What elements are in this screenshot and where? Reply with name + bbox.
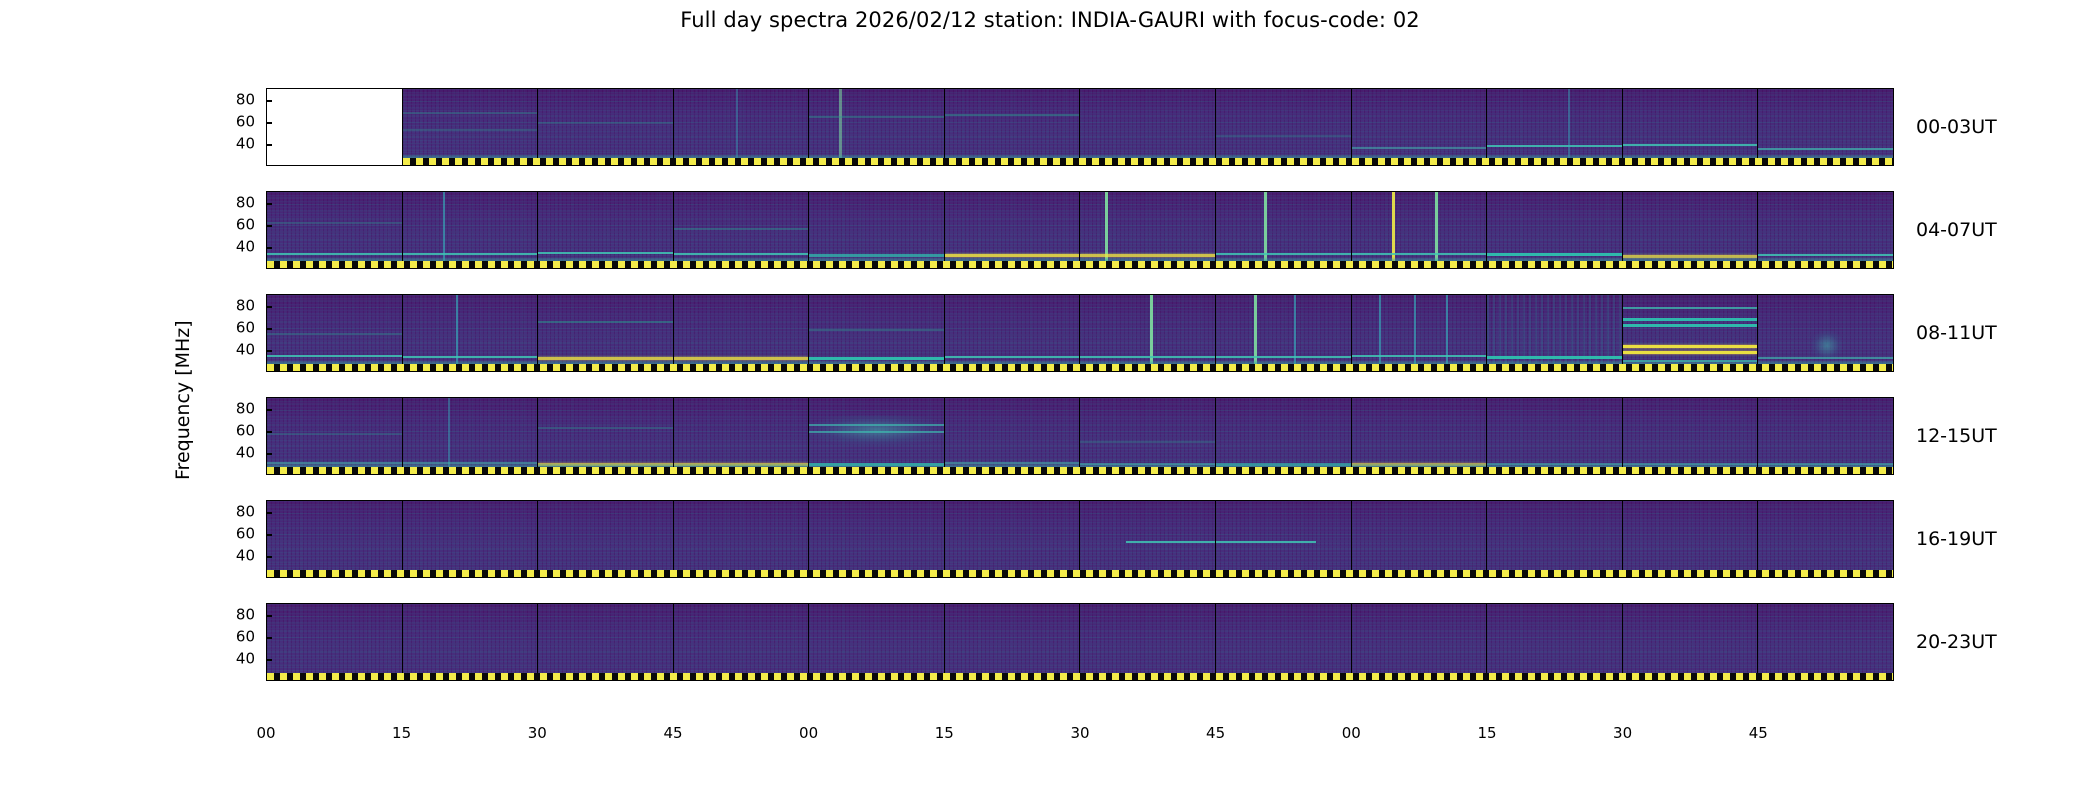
x-tick-label: 30: [1070, 724, 1089, 742]
data-marker-strip: [267, 467, 1893, 474]
row-label: 20-23UT: [1916, 631, 1997, 653]
panel: [1622, 89, 1758, 165]
panel: [1622, 398, 1758, 474]
y-tick-label: 60: [236, 527, 255, 542]
panel: [1079, 604, 1215, 680]
panel: [1351, 501, 1487, 577]
y-tick-label: 40: [236, 240, 255, 255]
panel: [944, 89, 1080, 165]
row-plot-area[interactable]: [266, 294, 1894, 372]
panel: [1079, 192, 1215, 268]
panel: [267, 501, 402, 577]
panel: [1215, 89, 1351, 165]
data-marker-strip: [267, 570, 1893, 577]
x-tick-label: 30: [528, 724, 547, 742]
panel: [537, 295, 673, 371]
y-tick-label: 40: [236, 343, 255, 358]
row-label: 12-15UT: [1916, 425, 1997, 447]
panel: [1622, 295, 1758, 371]
panel: [673, 192, 809, 268]
panel: [1079, 295, 1215, 371]
panel: [1486, 192, 1622, 268]
panel: [267, 398, 402, 474]
panel: [1351, 192, 1487, 268]
panel: [673, 398, 809, 474]
panel: [1079, 501, 1215, 577]
panel: [673, 89, 809, 165]
panel: [402, 192, 538, 268]
panel-nodata: [267, 89, 402, 165]
panel: [944, 604, 1080, 680]
data-marker-strip: [267, 261, 1893, 268]
y-tick-label: 80: [236, 299, 255, 314]
row-plot-area[interactable]: [266, 397, 1894, 475]
y-tick-label: 60: [236, 218, 255, 233]
row-plot-area[interactable]: [266, 603, 1894, 681]
panel: [537, 501, 673, 577]
y-tick-label: 60: [236, 321, 255, 336]
panel: [537, 192, 673, 268]
spectrogram-row: 80 60 40 08-11UT: [266, 294, 1894, 372]
panel: [1215, 501, 1351, 577]
panel: [267, 295, 402, 371]
row-plot-area[interactable]: [266, 500, 1894, 578]
spectrogram-row: 80 60 40 00-03UT: [266, 88, 1894, 166]
panel: [1622, 604, 1758, 680]
panel: [673, 604, 809, 680]
x-tick-label: 30: [1613, 724, 1632, 742]
panel: [808, 501, 944, 577]
panel: [537, 89, 673, 165]
data-marker-strip: [267, 364, 1893, 371]
panel: [808, 398, 944, 474]
panel: [808, 89, 944, 165]
panel: [1486, 295, 1622, 371]
y-tick-label: 60: [236, 115, 255, 130]
panel: [1757, 501, 1893, 577]
panel: [673, 501, 809, 577]
row-label: 08-11UT: [1916, 322, 1997, 344]
x-tick-label: 00: [1342, 724, 1361, 742]
panel: [1351, 295, 1487, 371]
panel: [1757, 604, 1893, 680]
panel: [537, 604, 673, 680]
panel: [1757, 398, 1893, 474]
row-label: 16-19UT: [1916, 528, 1997, 550]
panel: [944, 295, 1080, 371]
panel: [402, 295, 538, 371]
y-tick-label: 40: [236, 652, 255, 667]
panel: [1622, 192, 1758, 268]
y-tick-label: 40: [236, 137, 255, 152]
data-marker-strip: [267, 673, 1893, 680]
panel: [808, 604, 944, 680]
panel: [1351, 89, 1487, 165]
panel: [1079, 89, 1215, 165]
panel: [1622, 501, 1758, 577]
x-tick-label: 15: [935, 724, 954, 742]
panel: [1351, 604, 1487, 680]
panel: [1486, 604, 1622, 680]
panel: [673, 295, 809, 371]
panel: [267, 192, 402, 268]
y-tick-label: 80: [236, 505, 255, 520]
panel: [808, 192, 944, 268]
figure-title: Full day spectra 2026/02/12 station: IND…: [0, 8, 2100, 32]
y-tick-label: 80: [236, 402, 255, 417]
panel: [1215, 192, 1351, 268]
panel: [808, 295, 944, 371]
y-tick-label: 80: [236, 608, 255, 623]
panel: [402, 501, 538, 577]
spectrogram-row: 80 60 40 20-23UT: [266, 603, 1894, 681]
row-label: 00-03UT: [1916, 116, 1997, 138]
panel: [944, 398, 1080, 474]
row-plot-area[interactable]: [266, 191, 1894, 269]
spectrogram-row: 80 60 40 04-07UT: [266, 191, 1894, 269]
rows-container: 80 60 40 00-03UT: [266, 88, 1894, 718]
y-tick-label: 60: [236, 424, 255, 439]
panel: [1486, 398, 1622, 474]
row-label: 04-07UT: [1916, 219, 1997, 241]
panel: [537, 398, 673, 474]
row-plot-area[interactable]: [266, 88, 1894, 166]
spectrogram-row: 80 60 40 12-15UT: [266, 397, 1894, 475]
panel: [402, 604, 538, 680]
spectrogram-row: 80 60 40 16-19UT: [266, 500, 1894, 578]
panel: [402, 89, 538, 165]
x-tick-label: 15: [1477, 724, 1496, 742]
panel: [1757, 295, 1893, 371]
panel: [1079, 398, 1215, 474]
y-tick-label: 40: [236, 549, 255, 564]
panel: [1215, 295, 1351, 371]
data-marker-strip: [403, 158, 1893, 165]
x-tick-label: 00: [256, 724, 275, 742]
panel: [1215, 398, 1351, 474]
panel: [1757, 192, 1893, 268]
y-tick-label: 40: [236, 446, 255, 461]
panel: [1351, 398, 1487, 474]
panel: [1486, 89, 1622, 165]
panel: [1757, 89, 1893, 165]
y-tick-label: 80: [236, 93, 255, 108]
panel: [1486, 501, 1622, 577]
x-tick-label: 45: [663, 724, 682, 742]
panel: [1215, 604, 1351, 680]
x-tick-label: 00: [799, 724, 818, 742]
x-tick-label: 15: [392, 724, 411, 742]
panel: [944, 501, 1080, 577]
y-axis-label: Frequency [MHz]: [172, 320, 194, 480]
y-tick-label: 60: [236, 630, 255, 645]
x-tick-label: 45: [1749, 724, 1768, 742]
x-tick-label: 45: [1206, 724, 1225, 742]
spectrogram-figure: Full day spectra 2026/02/12 station: IND…: [0, 0, 2100, 800]
panel: [944, 192, 1080, 268]
y-tick-label: 80: [236, 196, 255, 211]
panel: [402, 398, 538, 474]
panel: [267, 604, 402, 680]
